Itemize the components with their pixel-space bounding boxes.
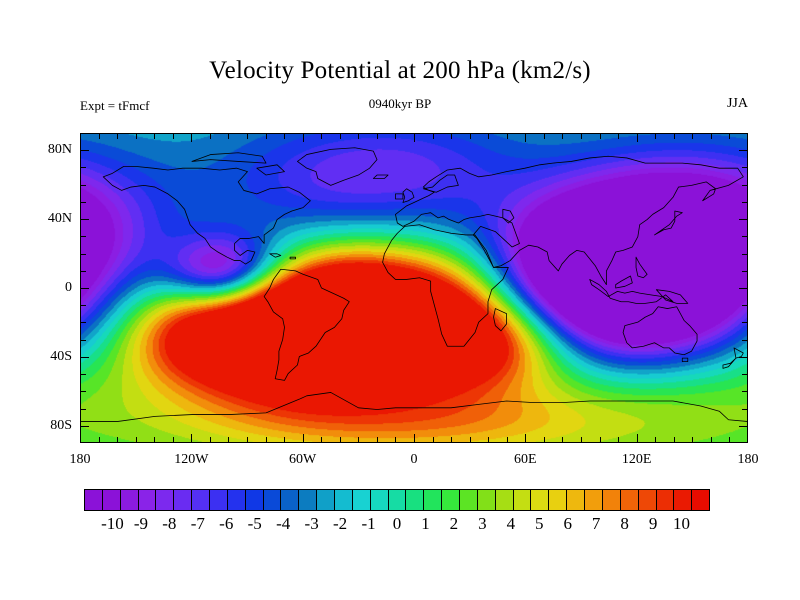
- y-axis-label: 0: [65, 280, 72, 296]
- colorbar-tick-label: 6: [563, 514, 572, 534]
- x-axis-tick: [266, 437, 267, 443]
- colorbar-cell: [585, 490, 603, 510]
- colorbar-tick-label: 2: [450, 514, 459, 534]
- x-axis-tick: [154, 437, 155, 443]
- colorbar-tick-label: 1: [421, 514, 430, 534]
- x-axis-tick: [544, 133, 545, 139]
- x-axis-tick: [544, 437, 545, 443]
- colorbar: [84, 489, 710, 511]
- x-axis-tick: [340, 437, 341, 443]
- colorbar-cell: [228, 490, 246, 510]
- x-axis-tick: [562, 133, 563, 139]
- y-axis-tick: [742, 236, 748, 237]
- colorbar-cell: [657, 490, 675, 510]
- x-axis-tick: [377, 133, 378, 139]
- colorbar-cell: [567, 490, 585, 510]
- x-axis-tick: [637, 133, 638, 142]
- colorbar-tick-label: 5: [535, 514, 544, 534]
- map-plot-area: [80, 133, 748, 443]
- x-axis-label: 120E: [622, 452, 652, 468]
- x-axis-tick: [340, 133, 341, 139]
- season-label: JJA: [727, 96, 748, 112]
- colorbar-tick-label: 10: [673, 514, 690, 534]
- x-axis-tick: [247, 133, 248, 139]
- y-axis-tick: [80, 374, 86, 375]
- x-axis-label: 180: [738, 452, 759, 468]
- x-axis-tick: [173, 437, 174, 443]
- x-axis-tick: [581, 133, 582, 139]
- colorbar-cell: [406, 490, 424, 510]
- y-axis-tick: [80, 391, 86, 392]
- y-axis-tick: [80, 340, 86, 341]
- colorbar-tick-label: -5: [248, 514, 262, 534]
- x-axis-tick: [136, 437, 137, 443]
- colorbar-cell: [210, 490, 228, 510]
- x-axis-label: 60E: [514, 452, 537, 468]
- y-axis-label: 40S: [50, 349, 72, 365]
- x-axis-tick: [674, 437, 675, 443]
- x-axis-tick: [451, 437, 452, 443]
- colorbar-cell: [531, 490, 549, 510]
- colorbar-cell: [353, 490, 371, 510]
- x-axis-tick: [562, 437, 563, 443]
- x-axis-tick: [488, 133, 489, 139]
- colorbar-cell: [281, 490, 299, 510]
- y-axis-tick: [742, 322, 748, 323]
- x-axis-tick: [600, 437, 601, 443]
- y-axis-tick: [80, 202, 86, 203]
- y-axis-tick: [742, 167, 748, 168]
- colorbar-cell: [156, 490, 174, 510]
- x-axis-tick: [674, 133, 675, 139]
- x-axis-tick: [284, 437, 285, 443]
- x-axis-tick: [470, 133, 471, 139]
- colorbar-cell: [674, 490, 692, 510]
- x-axis-tick: [266, 133, 267, 139]
- x-axis-tick: [507, 133, 508, 139]
- x-axis-tick: [414, 133, 415, 142]
- y-axis-tick: [80, 357, 89, 358]
- x-axis-tick: [99, 133, 100, 139]
- colorbar-tick-label: -2: [333, 514, 347, 534]
- x-axis-tick: [729, 133, 730, 139]
- y-axis-tick: [742, 254, 748, 255]
- colorbar-tick-label: -3: [305, 514, 319, 534]
- colorbar-tick-label: -10: [101, 514, 124, 534]
- x-axis-tick: [600, 133, 601, 139]
- colorbar-cell: [639, 490, 657, 510]
- colorbar-cell: [264, 490, 282, 510]
- x-axis-tick: [451, 133, 452, 139]
- colorbar-cell: [371, 490, 389, 510]
- y-axis-label: 40N: [48, 211, 72, 227]
- x-axis-label: 0: [411, 452, 418, 468]
- colorbar-cell: [139, 490, 157, 510]
- colorbar-cell: [478, 490, 496, 510]
- colorbar-tick-label: 9: [649, 514, 658, 534]
- x-axis-tick: [210, 437, 211, 443]
- x-axis-tick: [136, 133, 137, 139]
- x-axis-tick: [154, 133, 155, 139]
- x-axis-tick: [117, 437, 118, 443]
- y-axis-tick: [742, 374, 748, 375]
- x-axis-tick: [377, 437, 378, 443]
- x-axis-tick: [581, 437, 582, 443]
- colorbar-tick-label: -9: [134, 514, 148, 534]
- colorbar-cell: [317, 490, 335, 510]
- y-axis-label: 80S: [50, 418, 72, 434]
- x-axis-tick: [303, 434, 304, 443]
- x-axis-label: 60W: [289, 452, 316, 468]
- colorbar-tick-label: 4: [507, 514, 516, 534]
- colorbar-cell: [192, 490, 210, 510]
- y-axis-tick: [80, 271, 86, 272]
- y-axis-tick: [80, 219, 89, 220]
- experiment-label: Expt = tFmcf: [80, 98, 149, 114]
- colorbar-cell: [496, 490, 514, 510]
- y-axis-tick: [739, 150, 748, 151]
- coastline-overlay: [81, 134, 747, 442]
- colorbar-cell: [103, 490, 121, 510]
- y-axis-tick: [742, 185, 748, 186]
- colorbar-cell: [514, 490, 532, 510]
- colorbar-tick-label: 7: [592, 514, 601, 534]
- x-axis-tick: [321, 437, 322, 443]
- x-axis-tick: [228, 133, 229, 139]
- x-axis-tick: [395, 133, 396, 139]
- x-axis-label: 180: [70, 452, 91, 468]
- x-axis-tick: [692, 133, 693, 139]
- x-axis-tick: [358, 437, 359, 443]
- y-axis-tick: [742, 391, 748, 392]
- colorbar-cell: [174, 490, 192, 510]
- y-axis-tick: [739, 357, 748, 358]
- x-axis-tick: [210, 133, 211, 139]
- x-axis-tick: [507, 437, 508, 443]
- y-axis-tick: [80, 288, 89, 289]
- colorbar-cell: [549, 490, 567, 510]
- x-axis-tick: [711, 437, 712, 443]
- colorbar-tick-label: -6: [219, 514, 233, 534]
- colorbar-tick-label: -4: [276, 514, 290, 534]
- y-axis-tick: [739, 288, 748, 289]
- x-axis-tick: [191, 434, 192, 443]
- colorbar-cell: [621, 490, 639, 510]
- y-axis-tick: [80, 150, 89, 151]
- page-title: Velocity Potential at 200 hPa (km2/s): [0, 57, 800, 85]
- x-axis-tick: [414, 434, 415, 443]
- x-axis-tick: [228, 437, 229, 443]
- x-axis-tick: [395, 437, 396, 443]
- x-axis-tick: [655, 437, 656, 443]
- colorbar-cell: [335, 490, 353, 510]
- y-axis-tick: [80, 305, 86, 306]
- x-axis-tick: [99, 437, 100, 443]
- x-axis-tick: [247, 437, 248, 443]
- colorbar-tick-label: 3: [478, 514, 487, 534]
- y-axis-tick: [742, 202, 748, 203]
- y-axis-tick: [80, 426, 89, 427]
- colorbar-tick-label: -1: [361, 514, 375, 534]
- x-axis-tick: [470, 437, 471, 443]
- y-axis-tick: [80, 236, 86, 237]
- y-axis-tick: [80, 185, 86, 186]
- x-axis-tick: [191, 133, 192, 142]
- y-axis-tick: [80, 254, 86, 255]
- figure-root: Velocity Potential at 200 hPa (km2/s) 09…: [0, 0, 800, 600]
- colorbar-cell: [442, 490, 460, 510]
- y-axis-tick: [80, 167, 86, 168]
- x-axis-tick: [488, 437, 489, 443]
- colorbar-cell: [389, 490, 407, 510]
- x-axis-tick: [303, 133, 304, 142]
- x-axis-tick: [618, 437, 619, 443]
- colorbar-cell: [692, 490, 709, 510]
- x-axis-tick: [358, 133, 359, 139]
- colorbar-cell: [299, 490, 317, 510]
- y-axis-tick: [80, 322, 86, 323]
- colorbar-tick-label: 8: [620, 514, 629, 534]
- y-axis-tick: [80, 409, 86, 410]
- colorbar-tick-label: -8: [162, 514, 176, 534]
- x-axis-tick: [525, 434, 526, 443]
- x-axis-tick: [284, 133, 285, 139]
- x-axis-label: 120W: [174, 452, 208, 468]
- y-axis-tick: [742, 409, 748, 410]
- y-axis-label: 80N: [48, 142, 72, 158]
- colorbar-cell: [424, 490, 442, 510]
- y-axis-tick: [739, 426, 748, 427]
- colorbar-cell: [603, 490, 621, 510]
- x-axis-tick: [433, 437, 434, 443]
- y-axis-tick: [742, 340, 748, 341]
- colorbar-cell: [121, 490, 139, 510]
- x-axis-tick: [321, 133, 322, 139]
- colorbar-cell: [246, 490, 264, 510]
- colorbar-cell: [85, 490, 103, 510]
- y-axis-tick: [739, 219, 748, 220]
- x-axis-tick: [618, 133, 619, 139]
- x-axis-tick: [433, 133, 434, 139]
- y-axis-tick: [742, 271, 748, 272]
- y-axis-tick: [742, 305, 748, 306]
- x-axis-tick: [637, 434, 638, 443]
- x-axis-tick: [692, 437, 693, 443]
- colorbar-tick-label: -7: [191, 514, 205, 534]
- colorbar-tick-label: 0: [393, 514, 402, 534]
- x-axis-tick: [655, 133, 656, 139]
- x-axis-tick: [117, 133, 118, 139]
- x-axis-tick: [525, 133, 526, 142]
- x-axis-tick: [173, 133, 174, 139]
- colorbar-cell: [460, 490, 478, 510]
- x-axis-tick: [729, 437, 730, 443]
- x-axis-tick: [711, 133, 712, 139]
